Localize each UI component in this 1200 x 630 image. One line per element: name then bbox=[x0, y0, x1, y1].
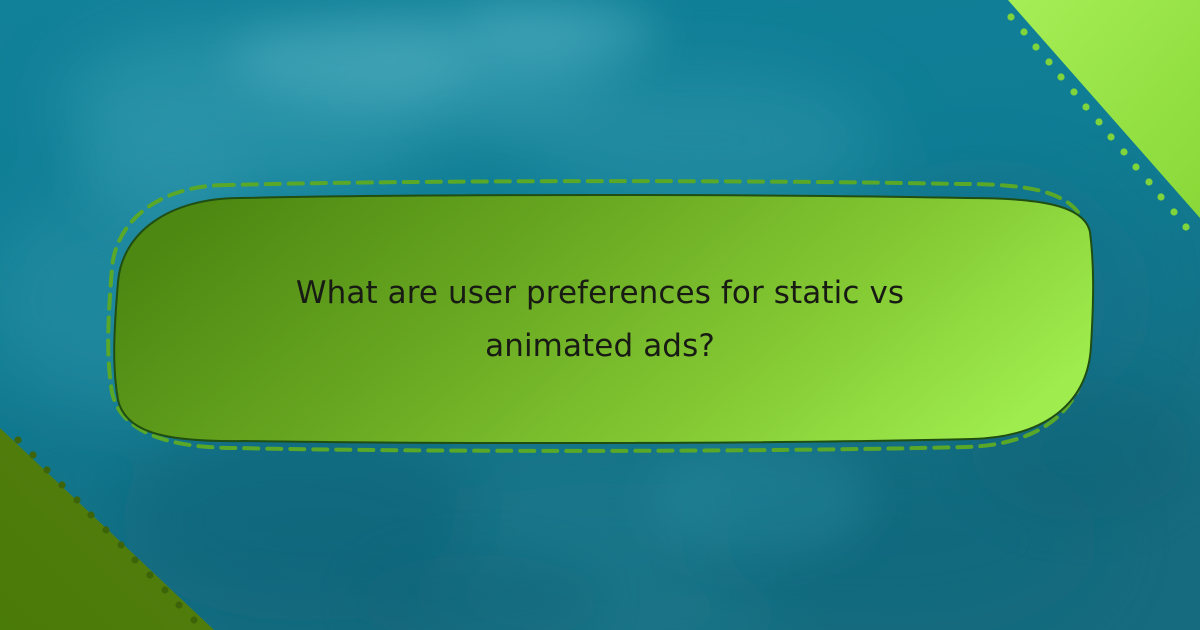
card-body bbox=[114, 195, 1093, 443]
question-card bbox=[0, 0, 1200, 630]
social-card-canvas: What are user preferences for static vs … bbox=[0, 0, 1200, 630]
